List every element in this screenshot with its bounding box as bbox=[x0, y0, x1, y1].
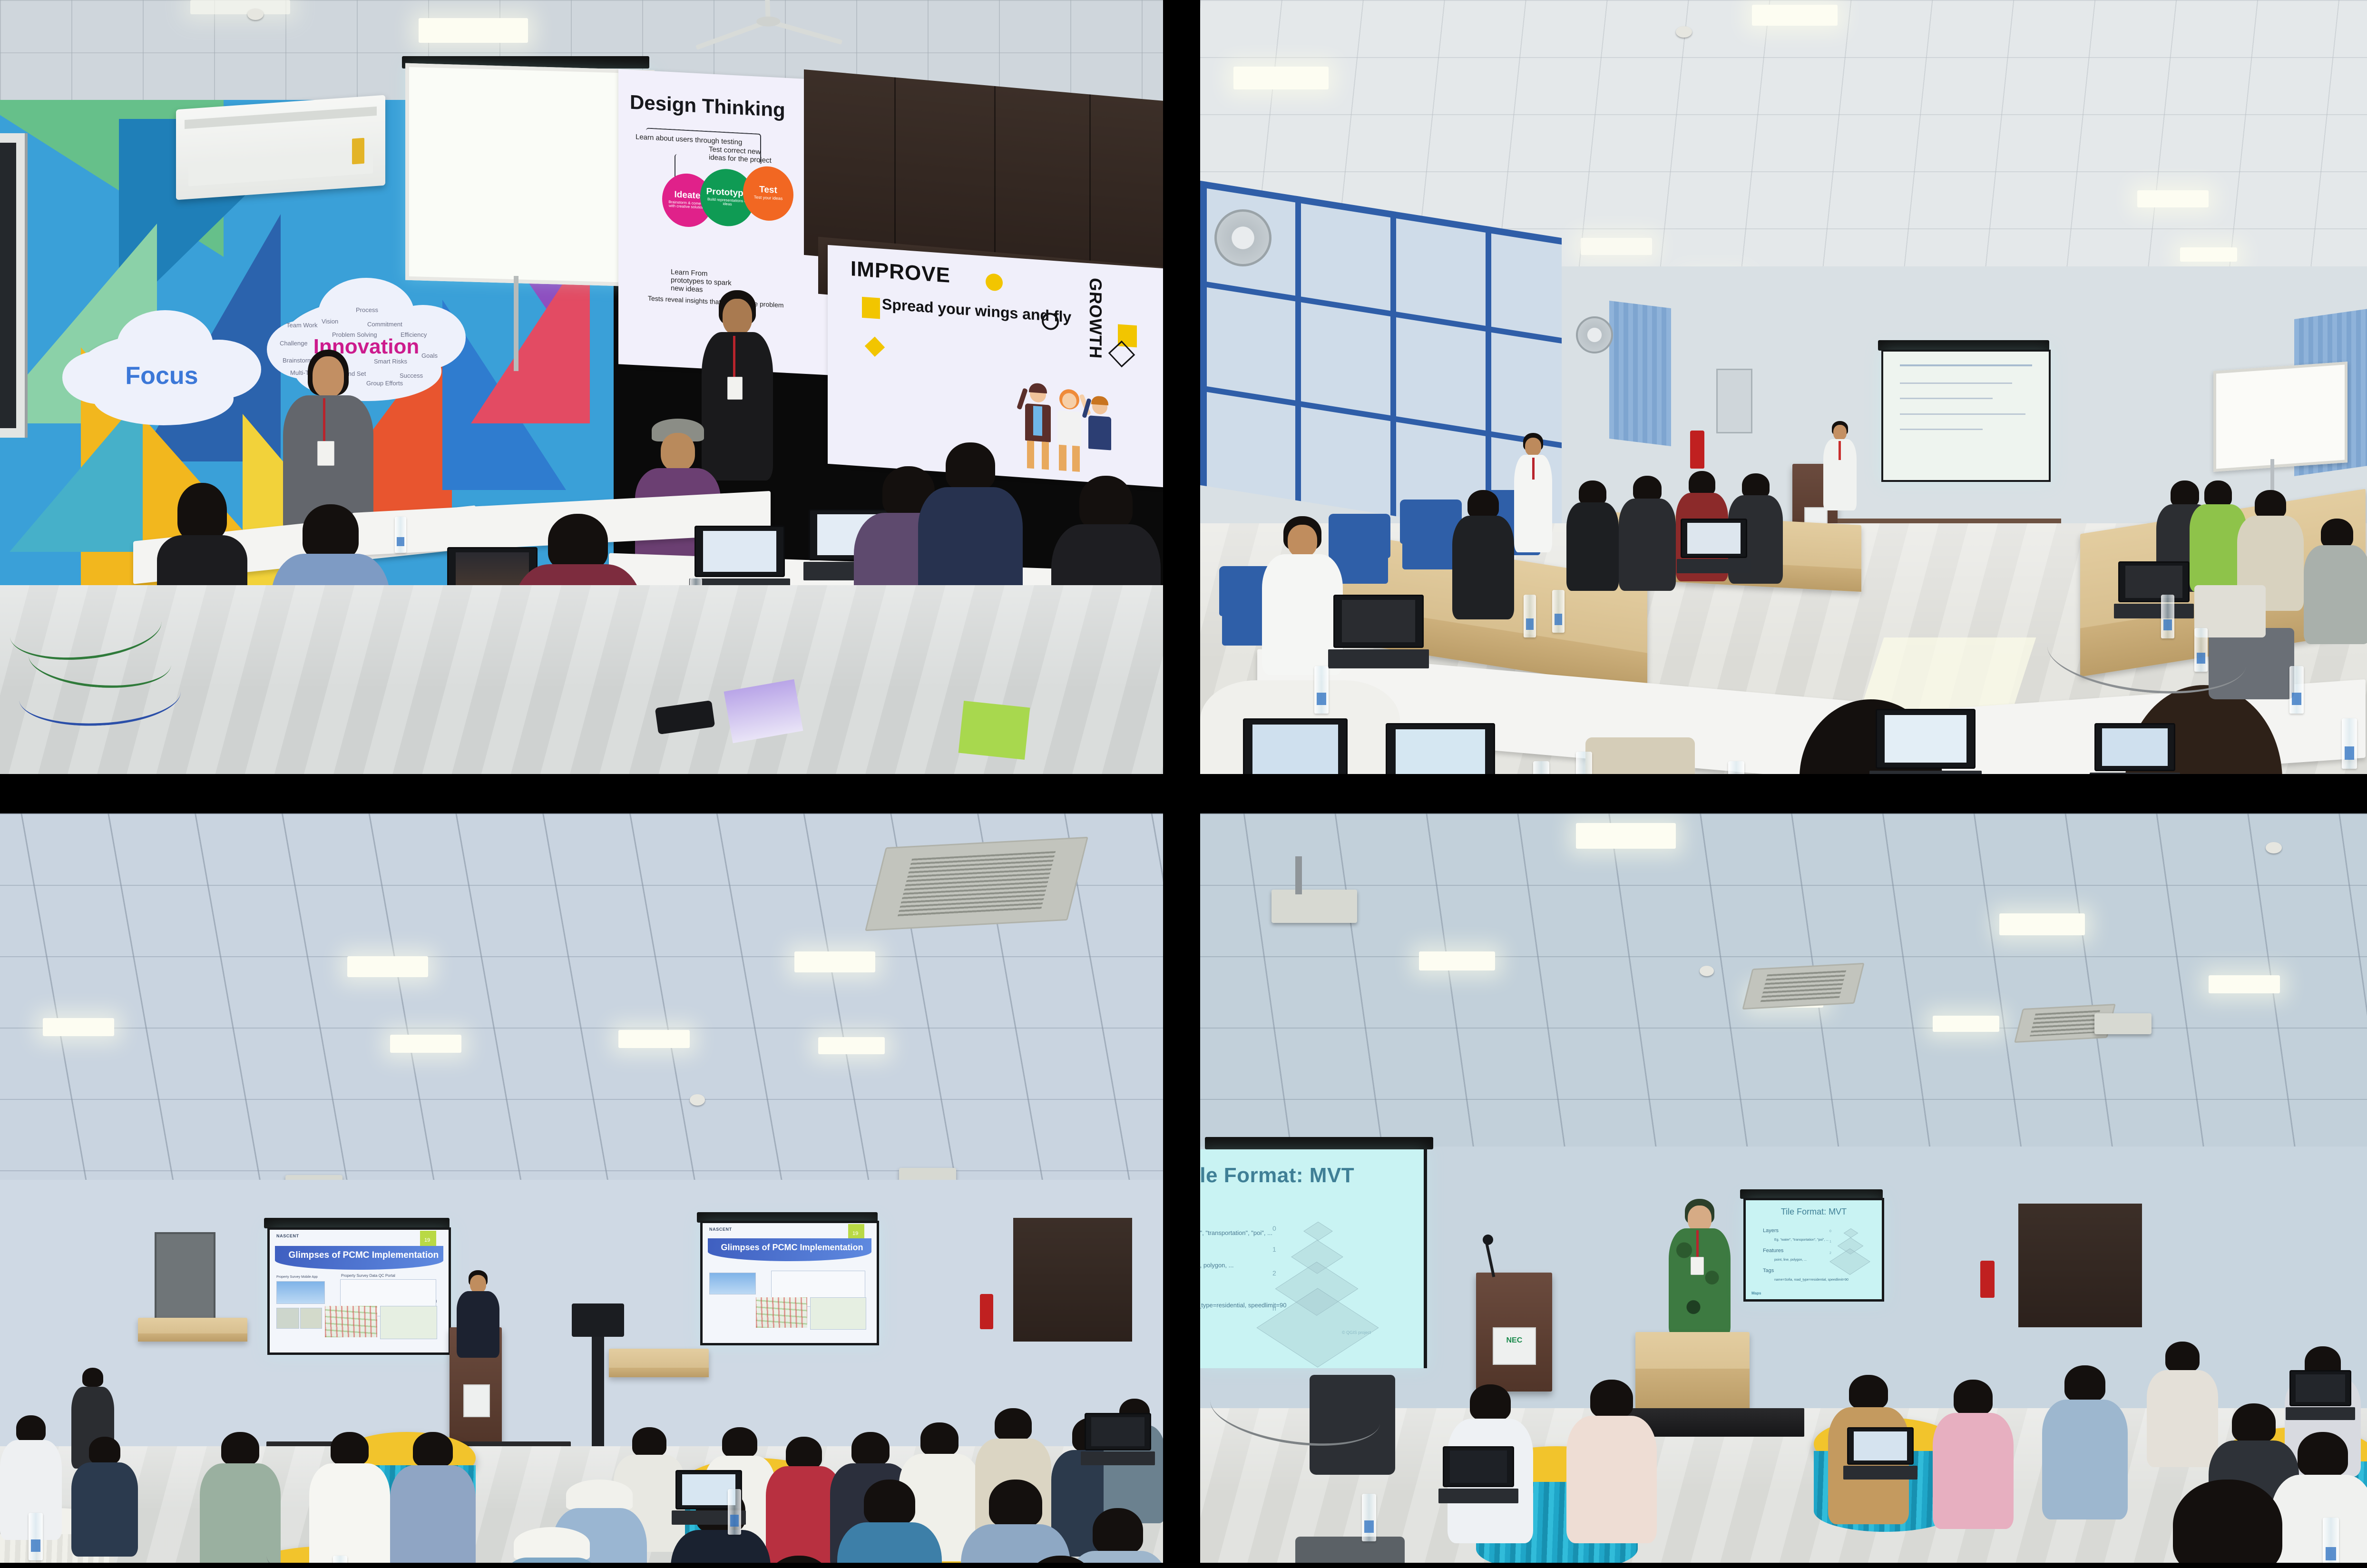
wall-fan bbox=[1214, 209, 1272, 266]
projection-screen-case bbox=[1205, 1137, 1433, 1149]
tile-pyramid-diagram: 0 1 2 bbox=[1835, 1229, 1878, 1281]
panel-bottom-left[interactable]: NASCENT 19 Glimpses of PCMC Implementati… bbox=[0, 813, 1163, 1563]
slide-image bbox=[810, 1297, 866, 1330]
projection-screen-case bbox=[1878, 340, 2049, 351]
dark-wall-panel bbox=[2018, 1204, 2142, 1327]
laptop[interactable] bbox=[1847, 1427, 1914, 1480]
slide-caption: Property Survey Mobile App bbox=[276, 1275, 318, 1279]
mural-keyword: Smart Risks bbox=[374, 358, 407, 365]
equipment-rack bbox=[155, 1232, 215, 1322]
laptop[interactable] bbox=[1243, 718, 1348, 774]
projection-screen-left[interactable]: Tile Format: MVT Eg. "water", "transport… bbox=[1200, 1149, 1427, 1368]
slide-title: Glimpses of PCMC Implementation bbox=[289, 1250, 439, 1261]
water-bottle bbox=[1314, 666, 1329, 714]
zoom-level: 1 bbox=[1272, 1245, 1276, 1253]
panel-top-left[interactable]: Focus Innovation Process Vision Commitme… bbox=[0, 0, 1163, 774]
attendee bbox=[1566, 480, 1619, 590]
slide-page-number: 19 bbox=[424, 1237, 430, 1243]
ceiling-projector bbox=[2094, 1013, 2152, 1034]
notepad bbox=[959, 701, 1030, 760]
wall-fan bbox=[1576, 316, 1613, 353]
ceiling-light bbox=[1419, 951, 1495, 970]
water-bottle bbox=[2323, 1518, 2339, 1563]
ac-ceiling-vent bbox=[1742, 963, 1864, 1009]
attendee bbox=[1619, 476, 1676, 590]
laptop[interactable] bbox=[1876, 709, 1976, 774]
design-thinking-title: Design Thinking bbox=[630, 91, 785, 122]
name-badge bbox=[727, 377, 743, 400]
name-badge bbox=[1691, 1257, 1704, 1275]
ceiling-light bbox=[43, 1018, 114, 1036]
attendee bbox=[495, 1527, 609, 1563]
tile-pyramid-diagram: 0 1 2 n © QGIS project bbox=[1286, 1221, 1390, 1340]
photo-collage: Focus Innovation Process Vision Commitme… bbox=[0, 0, 2367, 1568]
ceiling-light bbox=[1752, 5, 1838, 26]
slide-image bbox=[276, 1308, 299, 1329]
attendee bbox=[390, 1432, 476, 1563]
wall-panel bbox=[1716, 369, 1752, 433]
fire-extinguisher-icon bbox=[1980, 1261, 1995, 1298]
zoom-level: 1 bbox=[1829, 1240, 1831, 1244]
ceiling-light bbox=[2180, 247, 2237, 262]
yellow-diamond-icon bbox=[865, 337, 885, 357]
water-bottle bbox=[2289, 666, 2304, 714]
projection-screen-left[interactable]: NASCENT 19 Glimpses of PCMC Implementati… bbox=[267, 1227, 451, 1355]
water-bottle bbox=[1524, 595, 1536, 637]
slide-map bbox=[325, 1306, 377, 1337]
attendee bbox=[1566, 1380, 1657, 1541]
panel-bottom-right[interactable]: Tile Format: MVT Eg. "water", "transport… bbox=[1200, 813, 2367, 1563]
slide-title: Tile Format: MVT bbox=[1200, 1164, 1354, 1187]
slide-brand: NASCENT bbox=[276, 1234, 299, 1238]
mural-keyword: Vision bbox=[322, 318, 338, 325]
ceiling-projector bbox=[1272, 890, 1357, 923]
mural-keyword: Challenge bbox=[280, 340, 308, 347]
air-conditioner bbox=[176, 95, 385, 200]
slide-bullet: Features bbox=[1763, 1248, 1783, 1254]
smoke-detector-icon bbox=[690, 1094, 705, 1106]
chair bbox=[1543, 1518, 1652, 1563]
water-bottle bbox=[1533, 761, 1549, 774]
whiteboard bbox=[2213, 362, 2347, 472]
slide-caption: Property Survey Data QC Portal bbox=[341, 1274, 395, 1278]
cartoon-figure bbox=[1055, 388, 1084, 472]
focus-label: Focus bbox=[76, 362, 247, 390]
water-bottle bbox=[1728, 761, 1744, 774]
slide-bullet: Layers bbox=[1763, 1228, 1779, 1234]
slide-credit: © QGIS project bbox=[1342, 1330, 1371, 1335]
attendee bbox=[1452, 490, 1514, 618]
ceiling-light bbox=[2209, 975, 2280, 993]
attendee bbox=[1505, 431, 1543, 483]
ceiling-light bbox=[1999, 913, 2085, 935]
chair bbox=[1942, 1499, 2047, 1563]
chair bbox=[890, 1546, 985, 1563]
zoom-level: 2 bbox=[1829, 1252, 1831, 1255]
laptop[interactable] bbox=[1386, 723, 1495, 774]
cartoon-figure bbox=[1023, 382, 1053, 470]
slide-image bbox=[380, 1306, 437, 1339]
mural-keyword: Problem Solving bbox=[332, 331, 377, 338]
dark-wall-panel bbox=[1013, 1218, 1132, 1342]
focus-cloud: Focus bbox=[76, 333, 247, 414]
laptop[interactable] bbox=[2118, 561, 2190, 618]
zoom-level: 0 bbox=[1272, 1225, 1276, 1232]
attendee bbox=[989, 1556, 1132, 1563]
name-badge bbox=[317, 441, 334, 466]
attendee bbox=[733, 1556, 866, 1563]
speaker bbox=[1823, 421, 1857, 511]
water-bottle bbox=[1576, 752, 1592, 774]
slide-image bbox=[276, 1281, 325, 1304]
zoom-level: n bbox=[1272, 1304, 1276, 1312]
cartoon-figure bbox=[1086, 395, 1113, 473]
laptop[interactable] bbox=[1681, 519, 1747, 573]
water-bottle bbox=[2342, 718, 2357, 769]
slide-brand: NASCENT bbox=[709, 1227, 732, 1232]
chair bbox=[1814, 1489, 1918, 1563]
smoke-detector-icon bbox=[1700, 966, 1714, 976]
mural-keyword: Team Work bbox=[286, 322, 318, 329]
projection-screen-case bbox=[1740, 1189, 1883, 1199]
podium-logo bbox=[463, 1384, 490, 1417]
attendee bbox=[200, 1432, 281, 1563]
growth-label: GROWTH bbox=[1086, 277, 1105, 360]
slide-footer: Maps bbox=[1751, 1291, 1761, 1295]
water-bottle bbox=[728, 1489, 741, 1535]
laptop[interactable] bbox=[2094, 723, 2175, 774]
mural-keyword: Commitment bbox=[367, 321, 402, 328]
zoom-level: 2 bbox=[1272, 1269, 1276, 1277]
ceiling-fan bbox=[694, 0, 842, 52]
smoke-detector-icon bbox=[2266, 842, 2282, 853]
ceiling-light bbox=[794, 951, 875, 972]
ceiling-light bbox=[1233, 67, 1329, 89]
slide-subbullet: Eg. "water", "transportation", "poi", ..… bbox=[1200, 1229, 1272, 1236]
side-table bbox=[138, 1318, 247, 1342]
water-bottle bbox=[395, 517, 406, 553]
laptop[interactable] bbox=[2289, 1370, 2351, 1420]
water-bottle bbox=[1362, 1494, 1376, 1541]
projection-screen-right[interactable]: Tile Format: MVT Layers Eg. "water", "tr… bbox=[1743, 1198, 1884, 1302]
slide-title: Glimpses of PCMC Implementation bbox=[721, 1243, 863, 1253]
smoke-detector-icon bbox=[247, 9, 264, 20]
ceiling-light bbox=[818, 1037, 885, 1054]
mural-keyword: Efficiency bbox=[401, 331, 427, 338]
yellow-dot-icon bbox=[986, 273, 1003, 292]
projection-screen-blank bbox=[405, 63, 655, 287]
panel-top-right[interactable] bbox=[1200, 0, 2367, 774]
fire-extinguisher-icon bbox=[980, 1294, 993, 1329]
laptop-sleeve bbox=[1585, 737, 1695, 774]
podium-microphone-head bbox=[1483, 1235, 1493, 1245]
node-label: Test bbox=[759, 185, 777, 196]
ceiling-light bbox=[1576, 823, 1676, 849]
window-blind bbox=[1609, 301, 1671, 446]
laptop[interactable] bbox=[1085, 1413, 1151, 1465]
ceiling-light bbox=[347, 956, 428, 977]
ceiling-light bbox=[390, 1035, 461, 1053]
projection-screen bbox=[1881, 350, 2051, 482]
podium-logo-nec: NEC bbox=[1493, 1327, 1536, 1365]
projection-screen-right[interactable]: NASCENT 19 Glimpses of PCMC Implementati… bbox=[700, 1221, 879, 1345]
improve-heading: IMPROVE bbox=[851, 257, 950, 288]
nec-logo-text: NEC bbox=[1506, 1336, 1522, 1345]
slide-bullet: Tags bbox=[1763, 1268, 1774, 1274]
backpack bbox=[1295, 1537, 1405, 1563]
mural-keyword: Success bbox=[400, 372, 423, 379]
node-sub: Test your ideas bbox=[750, 194, 787, 202]
slide-map bbox=[756, 1297, 807, 1328]
ceiling-light bbox=[190, 0, 290, 14]
slide-image bbox=[300, 1308, 322, 1329]
zoom-level: 0 bbox=[1829, 1230, 1831, 1233]
slide-title: Tile Format: MVT bbox=[1781, 1207, 1847, 1217]
side-table bbox=[609, 1349, 709, 1377]
ac-ceiling-vent bbox=[865, 837, 1088, 931]
mural-keyword: Process bbox=[356, 306, 378, 314]
attendee-foreground bbox=[2128, 1480, 2328, 1563]
projection-screen-case bbox=[264, 1218, 450, 1228]
slide-subbullet: point, line, polygon, ... bbox=[1200, 1262, 1233, 1269]
attendee bbox=[2147, 1342, 2218, 1465]
ceiling-light bbox=[2137, 190, 2209, 207]
attendee bbox=[2304, 519, 2367, 642]
ceiling-light bbox=[618, 1030, 690, 1048]
chair bbox=[1685, 1503, 1795, 1563]
slide-page-number: 19 bbox=[852, 1231, 858, 1236]
ceiling-light bbox=[419, 18, 528, 43]
fire-extinguisher-icon bbox=[1690, 431, 1704, 469]
mural-keyword: Goals bbox=[421, 352, 438, 359]
speaker bbox=[457, 1270, 499, 1356]
ceiling-light bbox=[1933, 1016, 1999, 1032]
slide-subbullet: Eg. "water", "transportation", "poi", ..… bbox=[1774, 1238, 1829, 1242]
water-bottle bbox=[29, 1513, 43, 1560]
slide-page-chip: 19 bbox=[420, 1231, 436, 1248]
chair bbox=[614, 1556, 709, 1563]
chair bbox=[2056, 1484, 2156, 1563]
attendee bbox=[71, 1437, 138, 1556]
speaker bbox=[1669, 1199, 1731, 1337]
attendee bbox=[1066, 1508, 1163, 1563]
slide-image bbox=[709, 1273, 756, 1294]
smoke-detector-icon bbox=[1676, 26, 1692, 38]
ceiling-light bbox=[1581, 238, 1652, 255]
laptop[interactable] bbox=[1443, 1446, 1514, 1503]
video-camera bbox=[572, 1303, 624, 1337]
water-bottle bbox=[1552, 590, 1565, 633]
yellow-square-icon bbox=[862, 297, 880, 319]
slide-subbullet: point, line, polygon, ... bbox=[1774, 1258, 1807, 1262]
podium: NEC bbox=[1476, 1273, 1552, 1392]
laptop[interactable] bbox=[1333, 595, 1424, 668]
